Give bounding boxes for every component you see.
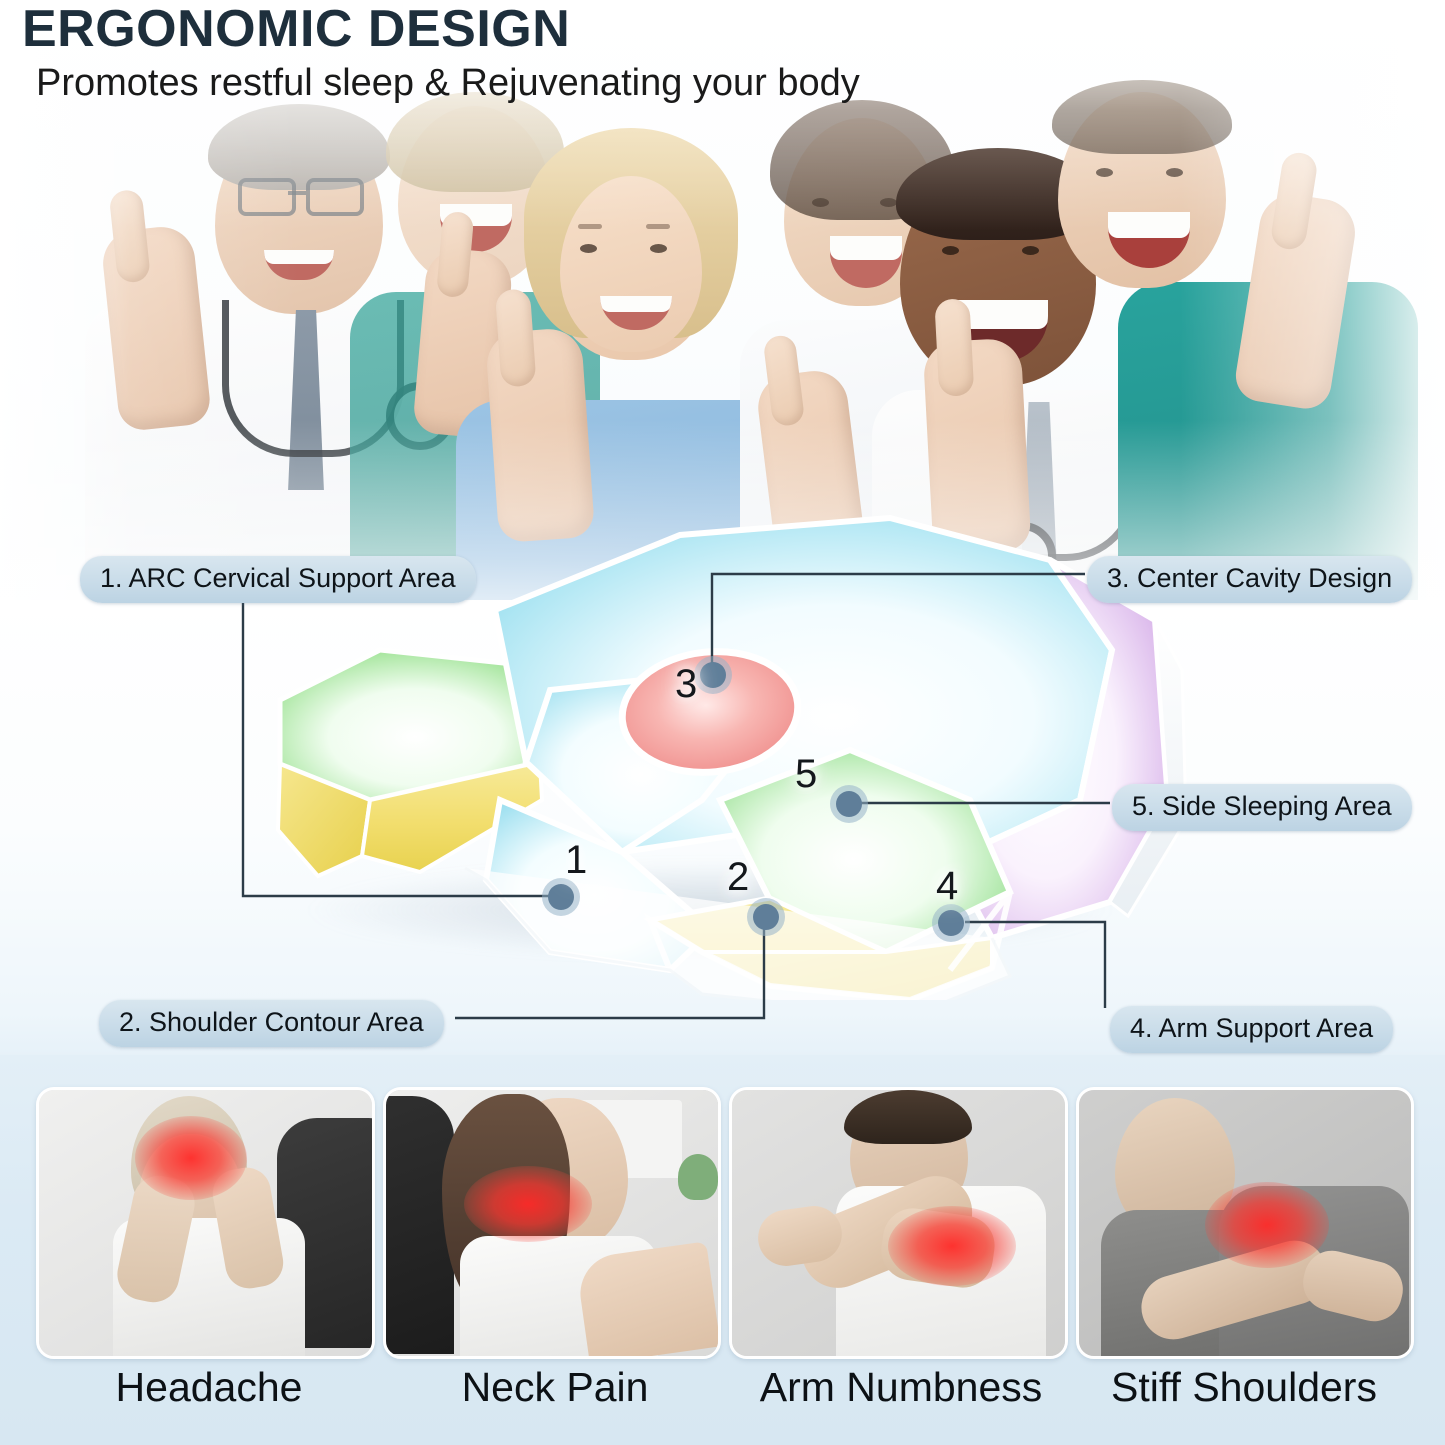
callout-number-4: 4 bbox=[936, 864, 958, 909]
callout-dot-4[interactable] bbox=[938, 910, 964, 936]
callout-dot-2[interactable] bbox=[753, 904, 779, 930]
product-infographic: ERGONOMIC DESIGN Promotes restful sleep … bbox=[0, 0, 1445, 1445]
callout-label-2[interactable]: 2. Shoulder Contour Area bbox=[99, 1000, 444, 1047]
callout-dot-3[interactable] bbox=[700, 662, 726, 688]
callout-number-2: 2 bbox=[727, 855, 749, 900]
callout-label-3[interactable]: 3. Center Cavity Design bbox=[1087, 556, 1412, 603]
callout-label-1[interactable]: 1. ARC Cervical Support Area bbox=[80, 556, 476, 603]
callout-number-1: 1 bbox=[565, 838, 587, 883]
callout-number-3: 3 bbox=[675, 662, 697, 707]
callout-dot-5[interactable] bbox=[836, 791, 862, 817]
callout-number-5: 5 bbox=[795, 752, 817, 797]
callout-leader-lines bbox=[0, 0, 1445, 1445]
callout-label-5[interactable]: 5. Side Sleeping Area bbox=[1112, 784, 1412, 831]
callout-dot-1[interactable] bbox=[548, 884, 574, 910]
page-title: ERGONOMIC DESIGN bbox=[22, 2, 570, 57]
callout-label-4[interactable]: 4. Arm Support Area bbox=[1110, 1006, 1393, 1053]
page-subtitle: Promotes restful sleep & Rejuvenating yo… bbox=[36, 62, 860, 105]
